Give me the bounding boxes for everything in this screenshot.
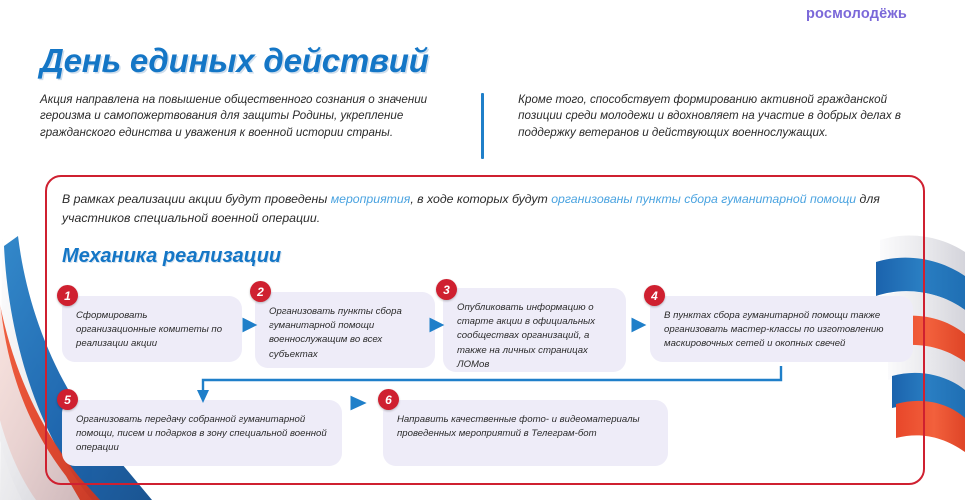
note-text: В рамках реализации акции будут проведен…	[62, 190, 912, 228]
intro-paragraph-right: Кроме того, способствует формированию ак…	[484, 92, 930, 159]
step-badge-5: 5	[57, 389, 78, 410]
step-badge-2: 2	[250, 281, 271, 302]
flow-arrows	[0, 270, 965, 500]
note-part-2: , в ходе которых будут	[410, 192, 551, 206]
note-highlight-1: мероприятия	[331, 192, 411, 206]
page-title: День единых действий	[40, 42, 429, 80]
step-badge-4: 4	[644, 285, 665, 306]
mechanics-heading: Механика реализации	[62, 245, 281, 268]
step-badge-1: 1	[57, 285, 78, 306]
infographic-page: росмолодёжь День единых действий Акция н…	[0, 0, 965, 500]
step-badge-3: 3	[436, 279, 457, 300]
intro-section: Акция направлена на повышение общественн…	[40, 92, 930, 159]
note-part-1: В рамках реализации акции будут проведен…	[62, 192, 331, 206]
note-highlight-2: организованы пункты сбора гуманитарной п…	[551, 192, 856, 206]
intro-paragraph-left: Акция направлена на повышение общественн…	[40, 92, 481, 159]
step-badge-6: 6	[378, 389, 399, 410]
brand-logo: росмолодёжь	[806, 6, 907, 22]
